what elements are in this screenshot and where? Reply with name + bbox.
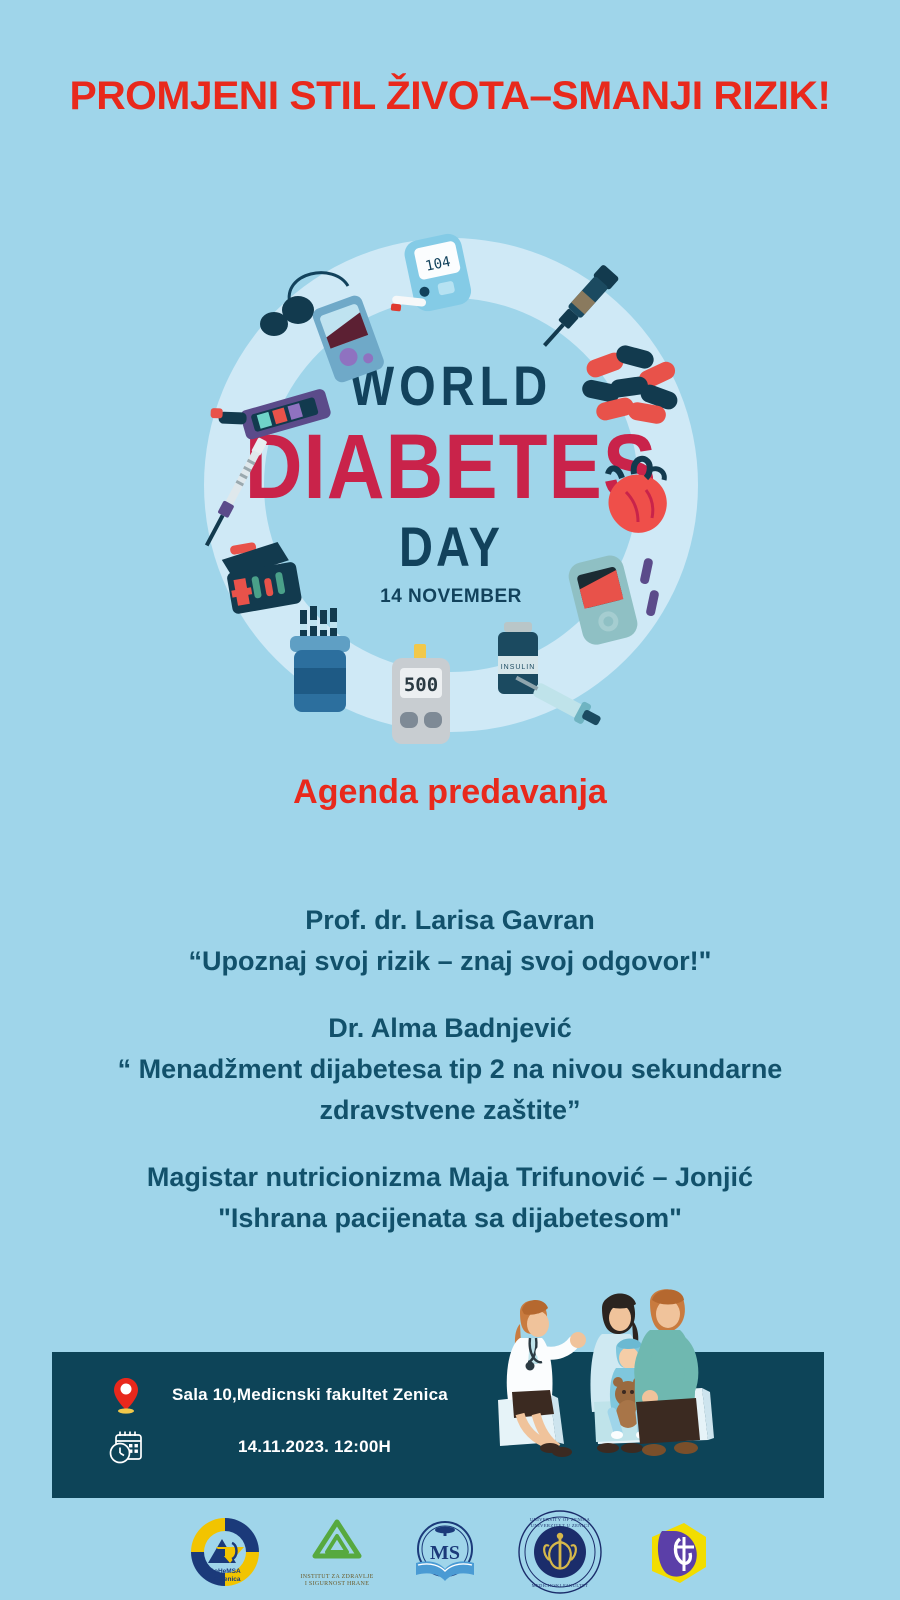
speaker-name: Prof. dr. Larisa Gavran — [0, 900, 900, 941]
bohemsa-lc-zenica-logo: BoHeMSA LC Zenica — [186, 1506, 264, 1598]
svg-text:MS: MS — [430, 1542, 460, 1564]
calendar-clock-icon — [104, 1424, 148, 1470]
svg-text:UNIVERSITY OF ZENICA: UNIVERSITY OF ZENICA — [529, 1517, 590, 1522]
svg-text:500: 500 — [404, 674, 438, 696]
pills-capsules-icon — [578, 338, 688, 443]
agenda-entry: Dr. Alma Badnjević “ Menadžment dijabete… — [0, 1008, 900, 1131]
svg-text:UNIVERZITET U ZENICI: UNIVERZITET U ZENICI — [530, 1523, 589, 1528]
msolsmrs-zenica-logo: MS — [410, 1506, 480, 1598]
datetime-row: 14.11.2023. 12:00H — [104, 1424, 391, 1470]
speaker-topic: “ Menadžment dijabetesa tip 2 na nivou s… — [55, 1049, 845, 1131]
speaker-topic: “Upoznaj svoj rizik – znaj svoj odgovor!… — [0, 941, 900, 982]
institut-za-zdravlje-logo: INSTITUT ZA ZDRAVLJEI SIGURNOST HRANE — [300, 1506, 373, 1598]
insulin-vial-icon: INSULIN — [480, 618, 610, 743]
svg-text:MEDICINSKI FAKULTET: MEDICINSKI FAKULTET — [531, 1583, 588, 1588]
page-title: PROMJENI STIL ŽIVOTA–SMANJI RIZIK! — [0, 74, 900, 119]
location-text: Sala 10,Medicnski fakultet Zenica — [172, 1385, 448, 1405]
doctor-consulting-family-illustration — [490, 1272, 715, 1462]
syringe-thin-icon — [188, 426, 278, 571]
location-row: Sala 10,Medicnski fakultet Zenica — [104, 1372, 448, 1418]
agenda-title: Agenda predavanja — [0, 773, 900, 812]
speaker-topic: "Ishrana pacijenata sa dijabetesom" — [0, 1198, 900, 1239]
institut-logo-caption: INSTITUT ZA ZDRAVLJEI SIGURNOST HRANE — [300, 1574, 373, 1589]
partner-logos: BoHeMSA LC Zenica INSTITUT ZA ZDRAVLJEI … — [0, 1504, 900, 1600]
glucometer-500-icon: 500 — [372, 642, 472, 757]
map-pin-icon — [104, 1372, 148, 1418]
speaker-name: Magistar nutricionizma Maja Trifunović –… — [0, 1157, 900, 1198]
agenda-entry: Magistar nutricionizma Maja Trifunović –… — [0, 1157, 900, 1239]
univerzitet-u-zenici-medicinski-fakultet-logo: UNIVERSITY OF ZENICA UNIVERZITET U ZENIC… — [516, 1506, 604, 1598]
svg-text:INSULIN: INSULIN — [501, 664, 536, 671]
world-diabetes-day-emblem: 104 — [196, 230, 706, 740]
svg-text:BoHeMSA: BoHeMSA — [210, 1568, 242, 1575]
partner-purple-yellow-logo — [640, 1506, 714, 1598]
datetime-text: 14.11.2023. 12:00H — [238, 1437, 391, 1457]
agenda-entry: Prof. dr. Larisa Gavran “Upoznaj svoj ri… — [0, 900, 900, 982]
svg-text:LC Zenica: LC Zenica — [210, 1576, 241, 1583]
heart-anatomical-icon — [588, 448, 688, 553]
father-figure — [635, 1289, 700, 1456]
poster-root: PROMJENI STIL ŽIVOTA–SMANJI RIZIK! 104 — [0, 0, 900, 1600]
speaker-name: Dr. Alma Badnjević — [0, 1008, 900, 1049]
agenda-list: Prof. dr. Larisa Gavran “Upoznaj svoj ri… — [0, 900, 900, 1239]
